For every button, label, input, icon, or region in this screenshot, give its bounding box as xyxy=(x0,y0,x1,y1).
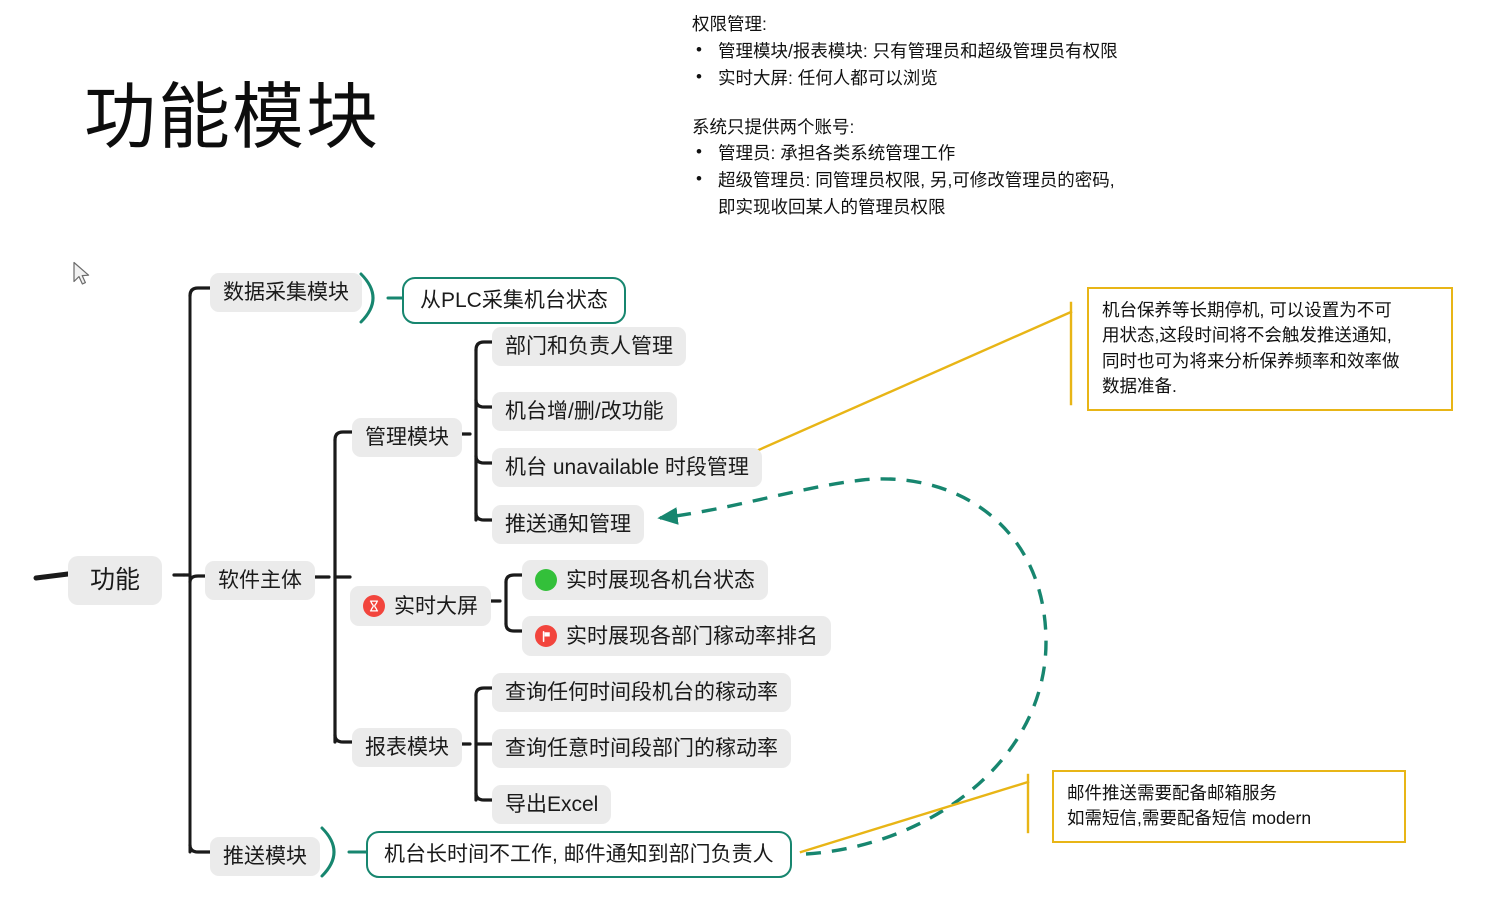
mouse-cursor-icon xyxy=(72,261,92,287)
callout-mail-service: 邮件推送需要配备邮箱服务 如需短信,需要配备短信 modern xyxy=(1052,770,1406,843)
green-dot-icon xyxy=(535,569,557,591)
callout-unavailable: 机台保养等长期停机, 可以设置为不可 用状态,这段时间将不会触发推送通知, 同时… xyxy=(1087,287,1453,411)
notes-heading-accounts: 系统只提供两个账号: xyxy=(692,115,1252,140)
note-item: 管理员: 承担各类系统管理工作 xyxy=(692,141,1252,166)
node-show-dept-utilization-rank[interactable]: 实时展现各部门稼动率排名 xyxy=(522,616,831,656)
callout-line: 数据准备. xyxy=(1102,374,1438,399)
node-machine-idle-email-owner[interactable]: 机台长时间不工作, 邮件通知到部门负责人 xyxy=(366,831,792,878)
node-label: 实时展现各部门稼动率排名 xyxy=(566,626,818,647)
node-push-module[interactable]: 推送模块 xyxy=(210,837,320,876)
node-report-module[interactable]: 报表模块 xyxy=(352,728,462,767)
notes-list-permissions: 管理模块/报表模块: 只有管理员和超级管理员有权限 实时大屏: 任何人都可以浏览 xyxy=(692,39,1252,91)
mindmap-canvas: 功能模块 权限管理: 管理模块/报表模块: 只有管理员和超级管理员有权限 实时大… xyxy=(0,0,1485,897)
node-data-collection-module[interactable]: 数据采集模块 xyxy=(210,273,362,312)
node-realtime-bigscreen[interactable]: 实时大屏 xyxy=(350,586,491,626)
notes-heading-permissions: 权限管理: xyxy=(692,12,1252,37)
node-show-machine-status[interactable]: 实时展现各机台状态 xyxy=(522,560,768,600)
note-item: 管理模块/报表模块: 只有管理员和超级管理员有权限 xyxy=(692,39,1252,64)
notes-spacer xyxy=(692,93,1252,115)
node-management-module[interactable]: 管理模块 xyxy=(352,418,462,457)
note-item: 实时大屏: 任何人都可以浏览 xyxy=(692,66,1252,91)
notes-list-accounts: 管理员: 承担各类系统管理工作 超级管理员: 同管理员权限, 另,可修改管理员的… xyxy=(692,141,1252,193)
callout-line: 如需短信,需要配备短信 modern xyxy=(1067,806,1391,831)
node-label: 实时大屏 xyxy=(394,596,478,617)
callout-line: 机台保养等长期停机, 可以设置为不可 xyxy=(1102,298,1438,323)
node-machine-unavailable-period[interactable]: 机台 unavailable 时段管理 xyxy=(492,448,762,487)
node-query-dept-utilization[interactable]: 查询任意时间段部门的稼动率 xyxy=(492,729,791,768)
node-software-body[interactable]: 软件主体 xyxy=(205,561,315,600)
node-machine-crud[interactable]: 机台增/删/改功能 xyxy=(492,392,677,431)
hourglass-icon xyxy=(363,595,385,617)
node-query-machine-utilization[interactable]: 查询任何时间段机台的稼动率 xyxy=(492,673,791,712)
permission-notes: 权限管理: 管理模块/报表模块: 只有管理员和超级管理员有权限 实时大屏: 任何… xyxy=(692,12,1252,220)
callout-line: 邮件推送需要配备邮箱服务 xyxy=(1067,781,1391,806)
node-label: 实时展现各机台状态 xyxy=(566,570,755,591)
note-item-continuation: 即实现收回某人的管理员权限 xyxy=(692,195,1252,220)
node-push-notification-management[interactable]: 推送通知管理 xyxy=(492,505,644,544)
node-dept-owner-management[interactable]: 部门和负责人管理 xyxy=(492,327,686,366)
note-item: 超级管理员: 同管理员权限, 另,可修改管理员的密码, xyxy=(692,168,1252,193)
node-export-excel[interactable]: 导出Excel xyxy=(492,785,611,824)
callout-line: 用状态,这段时间将不会触发推送通知, xyxy=(1102,323,1438,348)
feedback-arrow xyxy=(660,479,1046,854)
node-plc-collect-status[interactable]: 从PLC采集机台状态 xyxy=(402,277,626,324)
page-title: 功能模块 xyxy=(84,82,380,154)
flag-icon xyxy=(535,625,557,647)
node-root[interactable]: 功能 xyxy=(68,556,162,605)
callout-line: 同时也可为将来分析保养频率和效率做 xyxy=(1102,349,1438,374)
